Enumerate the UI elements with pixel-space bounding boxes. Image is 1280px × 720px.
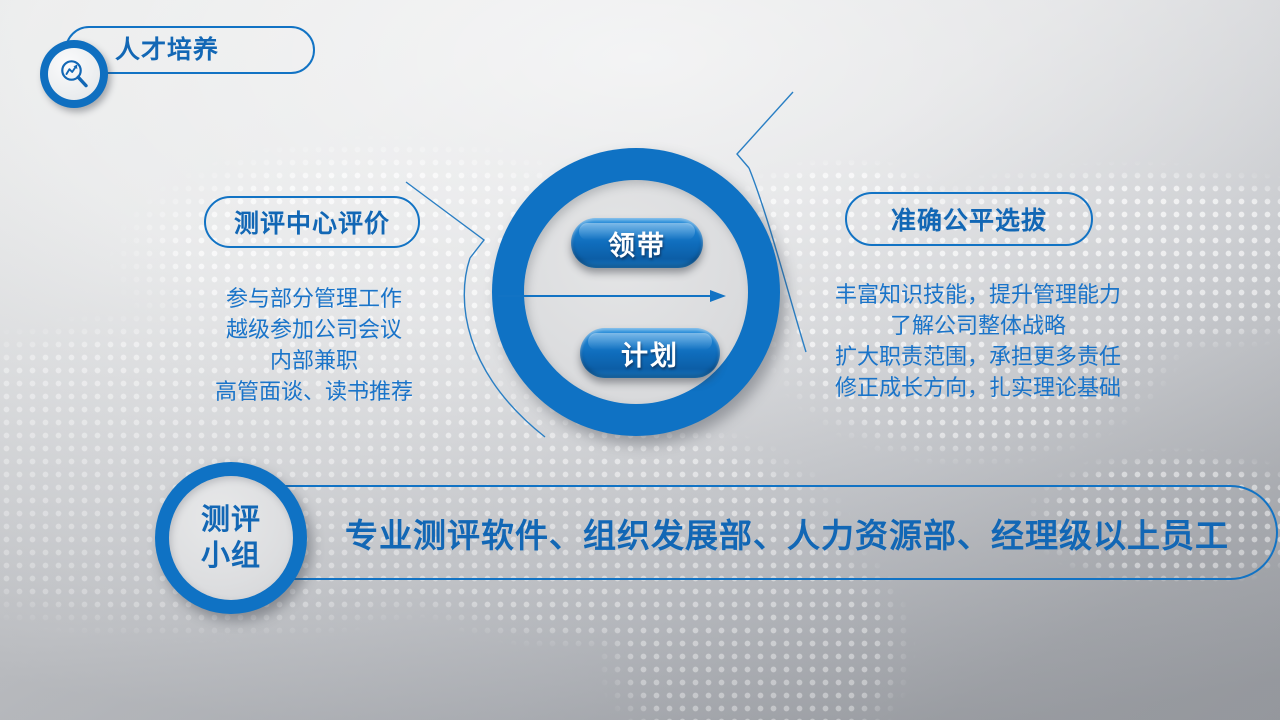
slide-canvas: 人才培养 领带 计划 测评中心评价 参与部分管理工: [0, 0, 1280, 720]
header-badge-inner: [48, 48, 100, 100]
right-line-2: 了解公司整体战略: [812, 310, 1144, 341]
page-title: 人才培养: [115, 36, 305, 64]
left-body-text: 参与部分管理工作 越级参加公司会议 内部兼职 高管面谈、读书推荐: [170, 283, 458, 407]
left-line-4: 高管面谈、读书推荐: [170, 376, 458, 407]
bottom-bar-text: 专业测评软件、组织发展部、人力资源部、经理级以上员工: [228, 509, 1276, 557]
group-badge-line-2: 小组: [201, 538, 261, 574]
left-line-3: 内部兼职: [170, 345, 458, 376]
left-line-1: 参与部分管理工作: [170, 283, 458, 314]
pill-plan[interactable]: 计划: [580, 328, 720, 378]
pill-necktie[interactable]: 领带: [571, 218, 703, 268]
header-chip[interactable]: 人才培养: [20, 24, 302, 76]
group-badge: 测评 小组: [155, 462, 307, 614]
magnifier-chart-icon: [56, 56, 92, 92]
header-badge: [40, 40, 108, 108]
right-line-1: 丰富知识技能，提升管理能力: [812, 279, 1144, 310]
group-badge-line-1: 测评: [201, 502, 261, 538]
bottom-bar[interactable]: 专业测评软件、组织发展部、人力资源部、经理级以上员工: [228, 485, 1278, 580]
right-line-3: 扩大职责范围，承担更多责任: [812, 341, 1144, 372]
right-body-text: 丰富知识技能，提升管理能力 了解公司整体战略 扩大职责范围，承担更多责任 修正成…: [812, 279, 1144, 403]
group-badge-inner: 测评 小组: [169, 476, 293, 600]
left-line-2: 越级参加公司会议: [170, 314, 458, 345]
right-line-4: 修正成长方向，扎实理论基础: [812, 372, 1144, 403]
center-arrow-icon: [496, 280, 746, 312]
right-title-pill[interactable]: 准确公平选拔: [845, 192, 1093, 246]
left-title-pill[interactable]: 测评中心评价: [204, 196, 420, 248]
